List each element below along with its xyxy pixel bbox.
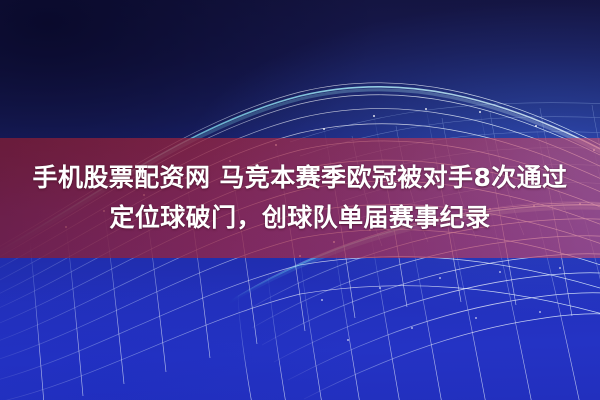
headline-line-1: 手机股票配资网 马竞本赛季欧冠被对手8次通过 [33,160,568,196]
headline: 手机股票配资网 马竞本赛季欧冠被对手8次通过 定位球破门，创球队单届赛事纪录 [0,160,600,248]
news-banner: 手机股票配资网 马竞本赛季欧冠被对手8次通过 定位球破门，创球队单届赛事纪录 [0,0,600,400]
headline-line-2: 定位球破门，创球队单届赛事纪录 [109,200,490,236]
